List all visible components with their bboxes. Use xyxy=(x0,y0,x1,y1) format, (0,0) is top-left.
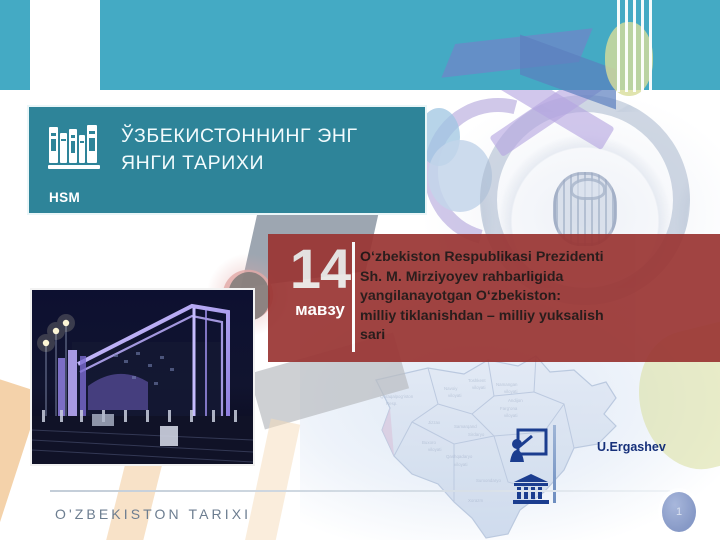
svg-text:viloyati: viloyati xyxy=(454,462,467,467)
svg-text:Toshkent: Toshkent xyxy=(468,378,486,383)
svg-text:Qashqadaryo: Qashqadaryo xyxy=(446,454,473,459)
svg-text:viloyati: viloyati xyxy=(428,447,441,452)
svg-text:viloyati: viloyati xyxy=(448,393,461,398)
svg-text:Qoraqalpog‘iston: Qoraqalpog‘iston xyxy=(380,394,414,399)
svg-text:Navoiy: Navoiy xyxy=(444,386,458,391)
course-title-block: ЎЗБЕКИСТОННИНГ ЭНГ ЯНГИ ТАРИХИ HSM xyxy=(27,105,427,215)
author-name: U.Ergashev xyxy=(597,440,666,454)
course-title-line-1: ЎЗБЕКИСТОННИНГ ЭНГ xyxy=(121,123,417,150)
svg-text:Xorazm: Xorazm xyxy=(468,498,483,503)
course-title: ЎЗБЕКИСТОННИНГ ЭНГ ЯНГИ ТАРИХИ xyxy=(121,123,417,177)
night-cityscape-photo xyxy=(30,288,255,466)
footer-divider xyxy=(50,490,670,492)
topic-description-line-4: milliy tiklanishdan – milliy yuksalish xyxy=(360,307,670,327)
white-stripes-banner xyxy=(612,0,654,92)
presentation-slide: Qoraqalpog‘iston Resp. Navoiy viloyati T… xyxy=(0,0,720,540)
page-number: 1 xyxy=(662,492,696,532)
topic-number-word: мавзу xyxy=(280,300,360,320)
hsm-abbreviation: HSM xyxy=(49,190,80,205)
topic-description: O‘zbekiston Respublikasi Prezidenti Sh. … xyxy=(360,248,670,346)
topic-description-line-2: Sh. M. Mirziyoyev rahbarligida xyxy=(360,268,670,288)
course-title-line-2: ЯНГИ ТАРИХИ xyxy=(121,150,417,177)
top-banner-white-gap xyxy=(30,0,100,90)
svg-text:Andijon: Andijon xyxy=(508,398,523,403)
svg-text:Farg‘ona: Farg‘ona xyxy=(500,406,518,411)
seal-knob-detail xyxy=(570,178,606,200)
svg-text:viloyati: viloyati xyxy=(504,413,517,418)
topic-banner: 14 мавзу O‘zbekiston Respublikasi Prezid… xyxy=(268,234,720,362)
blue-blob-large xyxy=(428,140,492,212)
top-banner-left-segment xyxy=(0,0,30,90)
teacher-board-icon xyxy=(508,428,548,464)
books-icon xyxy=(47,121,103,177)
topic-description-line-5: sari xyxy=(360,326,670,346)
svg-text:Buxoro: Buxoro xyxy=(422,440,436,445)
svg-text:viloyati: viloyati xyxy=(472,385,485,390)
topic-number: 14 xyxy=(280,240,360,298)
topic-description-line-3: yangilanayotgan O‘zbekiston: xyxy=(360,287,670,307)
footer-course-title: O'ZBEKISTON TARIXI xyxy=(55,506,251,522)
topic-description-line-1: O‘zbekiston Respublikasi Prezidenti xyxy=(360,248,670,268)
svg-text:Namangan: Namangan xyxy=(496,382,518,387)
museum-building-icon xyxy=(513,473,549,505)
svg-text:Resp.: Resp. xyxy=(386,401,397,406)
svg-text:Samarqand: Samarqand xyxy=(454,424,477,429)
page-number-badge: 1 xyxy=(662,492,696,532)
svg-text:Sirdaryo: Sirdaryo xyxy=(468,432,485,437)
svg-text:Surxondaryo: Surxondaryo xyxy=(476,478,501,483)
svg-text:viloyati: viloyati xyxy=(504,389,517,394)
svg-text:Jizzax: Jizzax xyxy=(428,420,441,425)
topic-divider xyxy=(352,242,355,352)
